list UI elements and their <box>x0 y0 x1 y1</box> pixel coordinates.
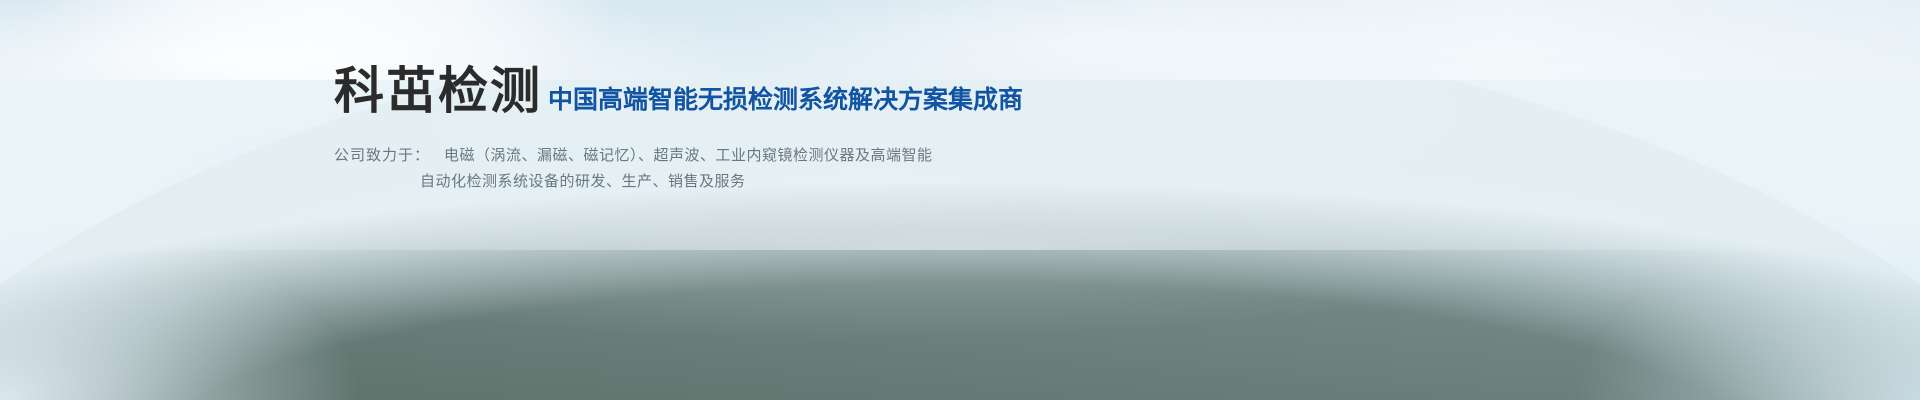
hero-banner: 科茁检测 中国高端智能无损检测系统解决方案集成商 公司致力于：电磁（涡流、漏磁、… <box>0 0 1920 400</box>
banner-description: 公司致力于：电磁（涡流、漏磁、磁记忆）、超声波、工业内窥镜检测仪器及高端智能 自… <box>334 142 1534 194</box>
description-text-2: 自动化检测系统设备的研发、生产、销售及服务 <box>420 172 746 190</box>
banner-copy: 科茁检测 中国高端智能无损检测系统解决方案集成商 公司致力于：电磁（涡流、漏磁、… <box>334 62 1534 194</box>
brand-title: 科茁检测 <box>334 62 542 120</box>
description-label: 公司致力于： <box>334 146 430 164</box>
brand-slogan: 中国高端智能无损检测系统解决方案集成商 <box>548 85 1023 120</box>
description-text-1: 电磁（涡流、漏磁、磁记忆）、超声波、工业内窥镜检测仪器及高端智能 <box>444 146 933 164</box>
headline-row: 科茁检测 中国高端智能无损检测系统解决方案集成商 <box>334 62 1534 120</box>
description-line-1: 公司致力于：电磁（涡流、漏磁、磁记忆）、超声波、工业内窥镜检测仪器及高端智能 <box>334 142 1534 168</box>
description-line-2: 自动化检测系统设备的研发、生产、销售及服务 <box>334 168 1534 194</box>
